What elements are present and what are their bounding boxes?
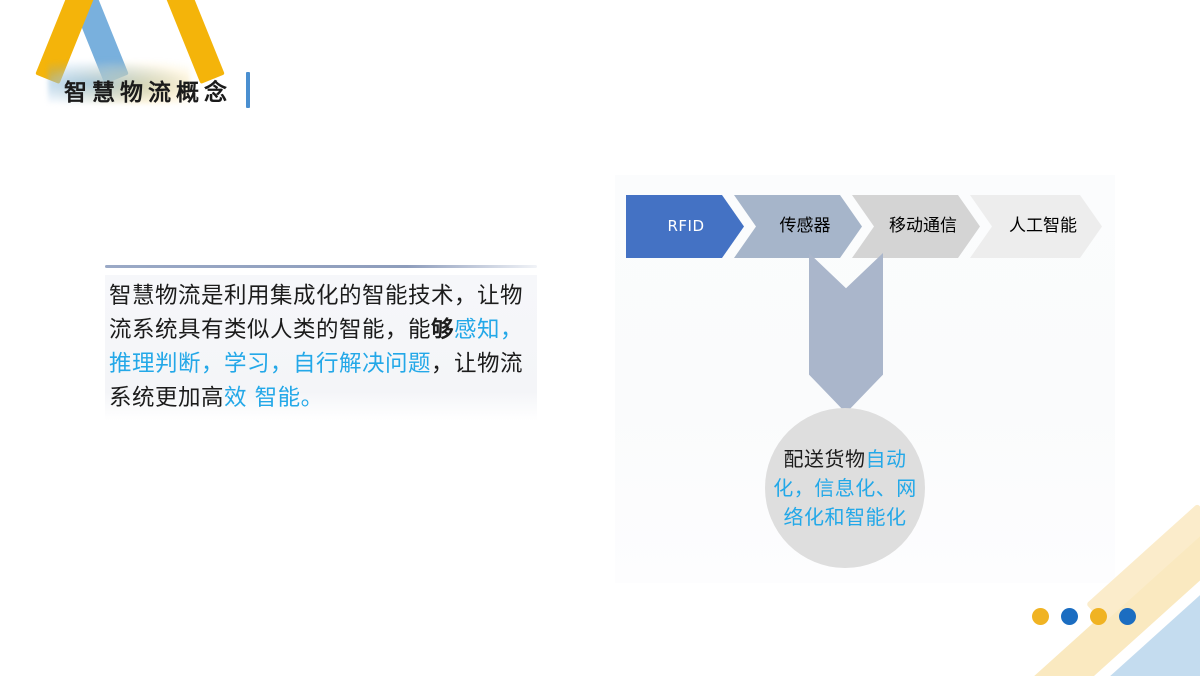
dot-4-blue: [1119, 608, 1136, 625]
chevron-step-rfid-label: RFID: [665, 219, 704, 234]
down-arrow-icon: [809, 253, 883, 413]
body-top-rule: [105, 265, 537, 268]
page-title: 智慧物流概念: [64, 73, 232, 107]
chevron-step-ai-label: 人工智能: [995, 218, 1077, 235]
chevron-step-mobile-comm-label: 移动通信: [875, 218, 957, 235]
body-line-4-highlight-b: 效 智: [224, 385, 278, 411]
body-paragraph: 智慧物流是利用集成化的智能技术， 让物流系统具有类似人类的智能， 能够感知，推理…: [105, 275, 537, 421]
chevron-step-sensor[interactable]: 传感器: [734, 195, 862, 258]
body-line-1: 智慧物流是利用集成化的智能技术，: [109, 283, 477, 309]
body-line-5-highlight: 能。: [278, 385, 324, 411]
chevron-process-row: RFID 传感器 移动通信 人工智能: [626, 195, 1092, 258]
dot-1-yellow: [1032, 608, 1049, 625]
decorative-dots: [1032, 608, 1136, 625]
body-line-3-bold: 够: [431, 317, 454, 343]
chevron-step-rfid[interactable]: RFID: [626, 195, 744, 258]
body-line-3-prefix: 能: [408, 317, 431, 343]
goal-text-black: 配送货物: [784, 447, 866, 471]
v-blue-stroke-left: [0, 0, 9, 84]
title-accent-bar: [246, 72, 250, 108]
goal-circle-text: 配送货物自动化，信息化、网络化和智能化: [765, 445, 925, 532]
dot-3-yellow: [1090, 608, 1107, 625]
title-row: 智慧物流概念: [64, 72, 250, 108]
chevron-step-sensor-label: 传感器: [766, 218, 831, 235]
body-line-4-highlight-a: 解决问题: [339, 351, 431, 377]
slide-canvas: 智慧物流概念 智慧物流是利用集成化的智能技术， 让物流系统具有类似人类的智能， …: [0, 0, 1200, 676]
chevron-step-ai[interactable]: 人工智能: [970, 195, 1102, 258]
dot-2-blue: [1061, 608, 1078, 625]
process-diagram-panel: RFID 传感器 移动通信 人工智能 配送货物自动化，信息化、网络化和智能化: [615, 175, 1115, 583]
goal-circle[interactable]: 配送货物自动化，信息化、网络化和智能化: [765, 408, 925, 568]
chevron-step-mobile-comm[interactable]: 移动通信: [852, 195, 980, 258]
body-text-block: 智慧物流是利用集成化的智能技术， 让物流系统具有类似人类的智能， 能够感知，推理…: [105, 265, 537, 421]
